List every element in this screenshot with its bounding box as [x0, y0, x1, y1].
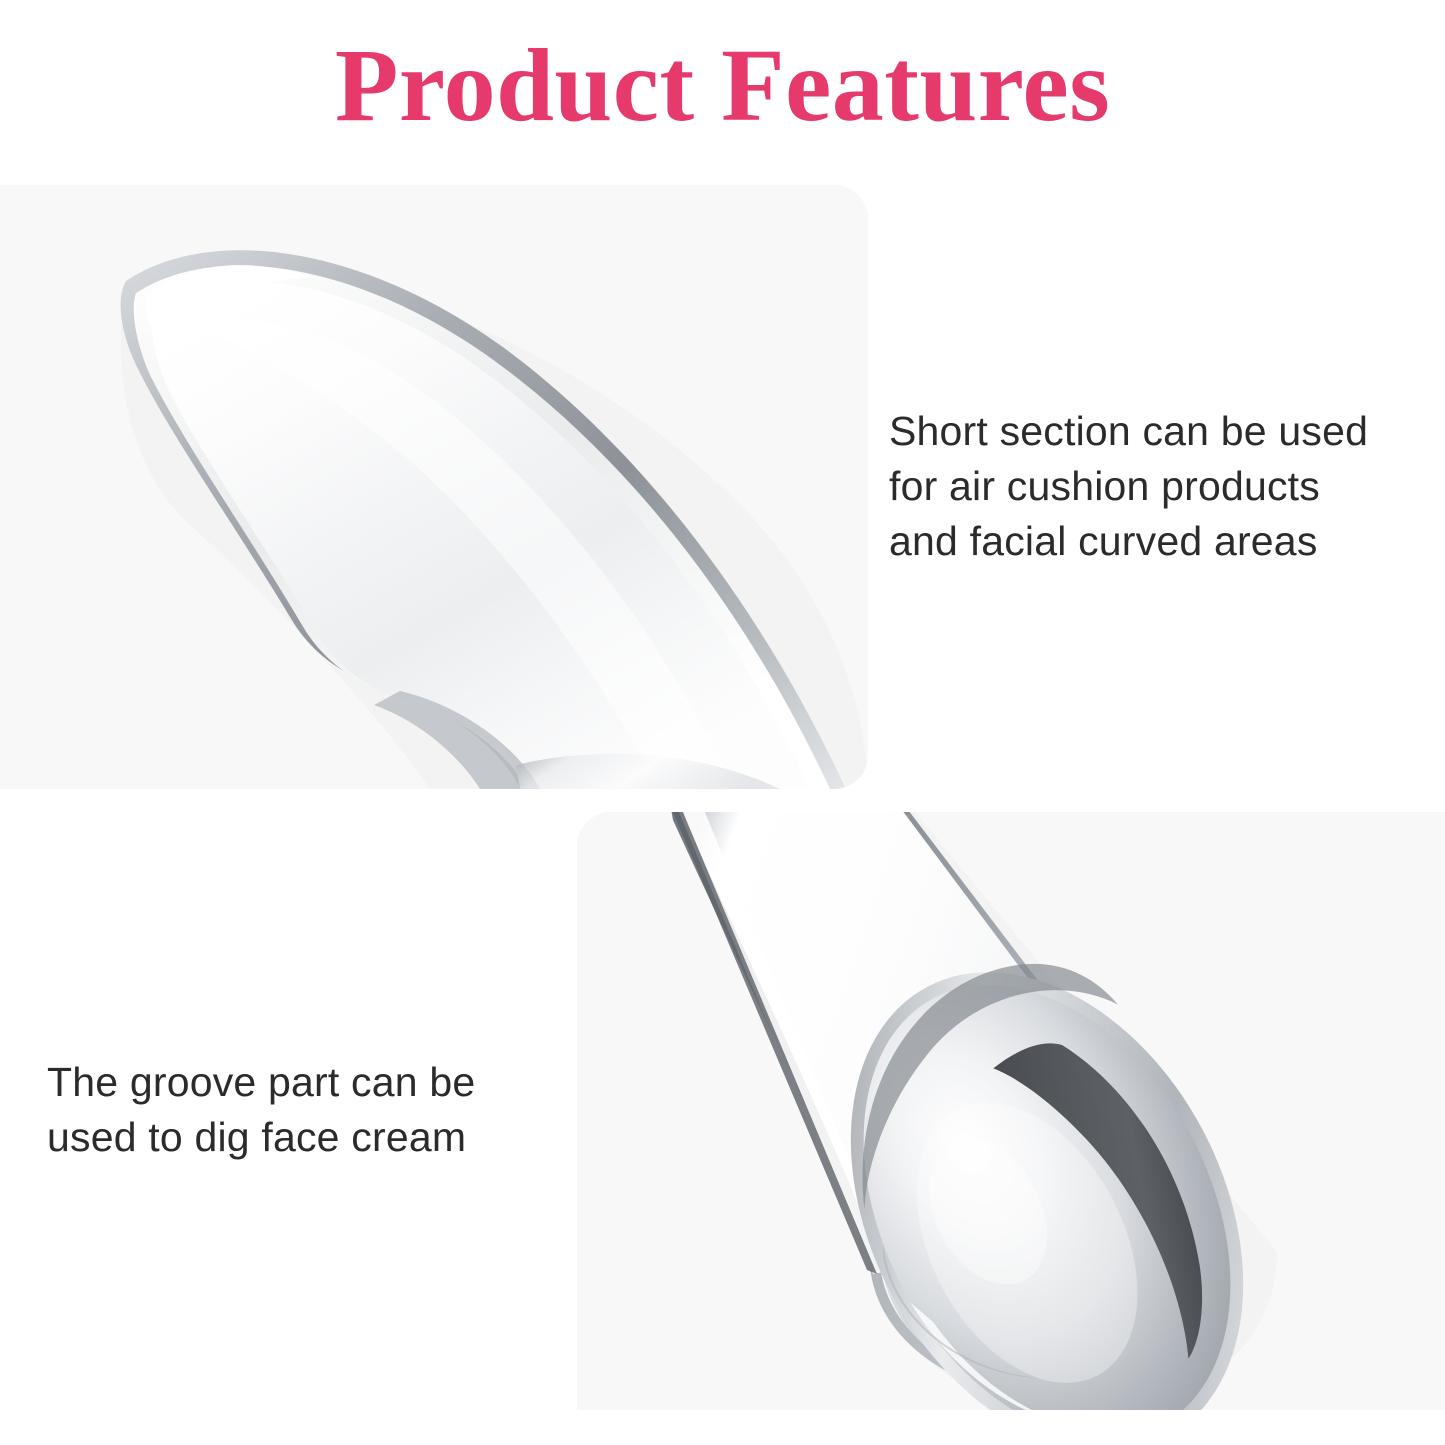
- product-features-page: Product Features: [0, 0, 1445, 1445]
- gua-sha-groove-icon: [577, 812, 1445, 1410]
- gua-sha-blade-icon: [0, 185, 868, 789]
- page-title: Product Features: [0, 28, 1445, 144]
- caption-groove-part: The groove part can be used to dig face …: [47, 1055, 557, 1165]
- top-blade-panel: [0, 185, 868, 789]
- bottom-groove-panel: [577, 812, 1445, 1410]
- caption-short-section: Short section can be used for air cushio…: [889, 404, 1437, 569]
